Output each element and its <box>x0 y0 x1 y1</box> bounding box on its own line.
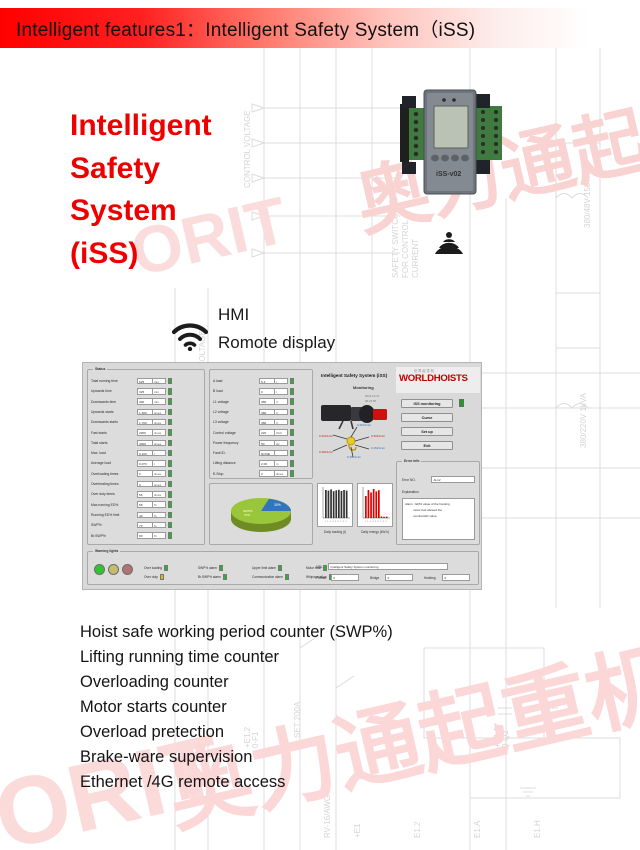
status-row: Average load0.073t <box>91 459 172 467</box>
svg-text:380/220V 1kVA: 380/220V 1kVA <box>579 392 588 448</box>
status-row-led <box>168 440 172 447</box>
brand-name: WORLDHOISTS <box>399 373 468 384</box>
status-row-value[interactable]: 3000 <box>137 440 153 447</box>
status-row-label: Fast starts <box>91 431 137 435</box>
status-row-label: Overloading times <box>91 472 137 476</box>
status-row-unit: t <box>275 378 288 385</box>
svg-text:FOR CONTROL: FOR CONTROL <box>401 219 410 278</box>
status-row-label: L3 voltage <box>213 420 259 424</box>
status-row-value[interactable]: 5.2 <box>259 378 275 385</box>
status-row-value[interactable]: 380 <box>259 419 275 426</box>
status-row: E-Stop2times <box>213 470 294 478</box>
status-row-unit: % <box>153 512 166 519</box>
svg-text:iSS-v02: iSS-v02 <box>436 171 461 178</box>
svg-text:5: 5 <box>335 521 336 523</box>
svg-text:1: 1 <box>325 521 326 523</box>
wifi-icon <box>172 323 208 351</box>
status-row-unit: % <box>153 532 166 539</box>
status-row-value[interactable]: 2900 <box>137 429 153 436</box>
brand-logo: 世界起重机 WORLDHOISTS <box>396 367 480 393</box>
status-row-led <box>168 512 172 519</box>
hero-line-3: System <box>70 190 212 233</box>
status-row-led <box>290 440 294 447</box>
svg-text:0.15t/1min: 0.15t/1min <box>371 446 385 450</box>
status-row-value[interactable]: 50 <box>259 440 275 447</box>
hmi-subtitle: Monitoring <box>353 385 374 390</box>
status-row-unit: min <box>153 378 166 385</box>
svg-text:1: 1 <box>365 521 366 523</box>
status-row: Fast starts2900times <box>91 429 172 437</box>
status-row: Upwards starts1,300times <box>91 408 172 416</box>
status-indicator: Over loading <box>144 565 168 571</box>
status-row: Upwards time325min <box>91 387 172 395</box>
status-row-unit: V <box>275 409 288 416</box>
status-row-unit: times <box>153 419 166 426</box>
status-indicator-led <box>160 574 164 580</box>
svg-text:0.20t/1min: 0.20t/1min <box>319 434 333 438</box>
status-row-led <box>168 532 172 539</box>
status-row-led <box>168 419 172 426</box>
svg-text:6: 6 <box>338 521 339 523</box>
iss-controller-photo: iSS-v02 <box>396 78 506 218</box>
svg-text:2: 2 <box>327 521 328 523</box>
status-row-led <box>168 481 172 488</box>
iss-monitoring-led <box>459 399 464 407</box>
svg-text:SAFETY SWITCH: SAFETY SWITCH <box>391 213 400 278</box>
status-row-unit: times <box>153 440 166 447</box>
url-field[interactable]: Intelligent Safety System monitoring <box>328 563 448 570</box>
status-row-label: Average load <box>91 461 137 465</box>
status-row-value[interactable]: 380 <box>259 409 275 416</box>
status-indicator-label: SWP% alarm <box>198 566 217 570</box>
status-row-value[interactable]: 2.06 <box>259 460 275 467</box>
status-row-unit: times <box>275 470 288 477</box>
hoisting-field[interactable]: 0 <box>442 574 470 581</box>
status-row-unit: times <box>153 409 166 416</box>
electric-hoist-diagram: 0.20t/1min 0.15t/1min 0.25t/1min 0.30t/1… <box>317 403 393 459</box>
status-row-label: Overheating times <box>91 482 137 486</box>
feature-item: Lifting running time counter <box>80 645 393 670</box>
hero-line-1: Intelligent <box>70 105 212 148</box>
status-row-value[interactable]: 58 <box>137 501 153 508</box>
svg-text:0.25t/1min: 0.25t/1min <box>347 455 361 459</box>
status-row: Over duty times56times <box>91 490 172 498</box>
status-row-unit <box>275 450 288 457</box>
status-row-label: Total starts <box>91 441 137 445</box>
status-row: A load5.2t <box>213 377 294 385</box>
status-indicator-label: Communication alarm <box>252 575 283 579</box>
status-indicator: Br.SWP% alarm <box>198 574 227 580</box>
status-row-led <box>290 409 294 416</box>
status-indicator-label: Over duty <box>144 575 158 579</box>
daily-energy-bar-chart: 123 456 789 <box>359 485 391 525</box>
warning-lights-title: Warning lights <box>93 549 120 553</box>
bridge-label: Bridge <box>370 576 379 580</box>
status-row-value[interactable]: 300 <box>137 398 153 405</box>
status-row-unit: times <box>153 470 166 477</box>
status-row-unit: times <box>153 491 166 498</box>
svg-text:7: 7 <box>380 521 381 523</box>
status-row-unit: V <box>275 398 288 405</box>
status-row-led <box>290 429 294 436</box>
status-indicator: Communication alarm <box>252 574 289 580</box>
status-row: Control voltage220VAC <box>213 429 294 437</box>
svg-text:E1.2: E1.2 <box>413 821 422 838</box>
button-curve[interactable]: Curve <box>401 413 453 422</box>
svg-text:E1.A: E1.A <box>473 820 482 838</box>
status-row-led <box>168 460 172 467</box>
status-row-value[interactable]: 80 <box>137 532 153 539</box>
status-row-led <box>168 470 172 477</box>
status-row-unit: t <box>153 450 166 457</box>
status-row: L2 voltage380V <box>213 408 294 416</box>
status-row: Br.SWP%80% <box>91 532 172 540</box>
status-row-value[interactable]: 625 <box>137 378 153 385</box>
svg-text:4: 4 <box>332 521 333 523</box>
status-row-label: L2 voltage <box>213 410 259 414</box>
daily-loading-caption: Daily loading (t) <box>317 530 353 534</box>
status-row-unit: t <box>275 388 288 395</box>
status-row-value[interactable]: 220 <box>259 429 275 436</box>
status-row-value[interactable]: 380 <box>259 398 275 405</box>
status-row-led <box>168 429 172 436</box>
explanation-label: Explanation <box>402 490 419 494</box>
status-group-title: Status <box>93 367 107 371</box>
status-row-led <box>168 522 172 529</box>
button-exit[interactable]: Exit <box>401 441 453 450</box>
status-row-label: Upwards starts <box>91 410 137 414</box>
hmi-screenshot-panel[interactable]: Status Total running time625minUpwards t… <box>82 362 482 590</box>
svg-text:2: 2 <box>367 521 368 523</box>
status-row-label: Over duty times <box>91 492 137 496</box>
status-row-led <box>290 470 294 477</box>
status-row-label: L1 voltage <box>213 400 259 404</box>
feature-list: Hoist safe working period counter (SWP%)… <box>80 620 393 796</box>
status-row: Downwards starts1,700times <box>91 418 172 426</box>
feature-item: Overloading counter <box>80 670 393 695</box>
hmi-caption-line1: HMI <box>218 305 249 325</box>
status-row: Downwards time300min <box>91 398 172 406</box>
status-row-unit: % <box>153 522 166 529</box>
status-row-value[interactable]: 0 <box>137 470 153 477</box>
status-row-value[interactable]: 40 <box>137 512 153 519</box>
status-row: L1 voltage380V <box>213 398 294 406</box>
status-row: Total starts3000times <box>91 439 172 447</box>
svg-text:380/48V 150VA: 380/48V 150VA <box>583 172 592 228</box>
svg-text:0.30t/1min: 0.30t/1min <box>371 434 385 438</box>
error-info-panel: Error info Error NO. AL12 Explanation Al… <box>396 461 480 545</box>
status-row: Total running time625min <box>91 377 172 385</box>
status-row-label: Downwards time <box>91 400 137 404</box>
status-row-unit: t <box>153 460 166 467</box>
yellow-lamp <box>108 564 119 575</box>
status-row-label: Max. load <box>91 451 137 455</box>
status-row-led <box>290 388 294 395</box>
status-row-label: SWP% <box>91 523 137 527</box>
status-row-value[interactable]: 0 <box>137 481 153 488</box>
hero-line-2: Safety <box>70 148 212 191</box>
feature-item: Hoist safe working period counter (SWP%) <box>80 620 393 645</box>
status-row-value[interactable]: NONE <box>259 450 275 457</box>
feature-item: Brake-ware supervision <box>80 745 393 770</box>
status-row-value[interactable]: 70 <box>137 522 153 529</box>
svg-text:0.28t/1min: 0.28t/1min <box>319 450 333 454</box>
hoisting-label: Hoisting <box>424 576 436 580</box>
format-field[interactable]: 0 <box>331 574 359 581</box>
svg-text:CURRENT: CURRENT <box>411 239 420 278</box>
status-indicator-led <box>285 574 289 580</box>
status-row-label: Control voltage <box>213 431 259 435</box>
svg-text:9: 9 <box>385 521 386 523</box>
status-row: Overheating times0times <box>91 480 172 488</box>
status-row-led <box>168 388 172 395</box>
status-row-label: Downwards starts <box>91 420 137 424</box>
svg-text:3: 3 <box>330 521 331 523</box>
status-row-label: Fault ID. <box>213 451 259 455</box>
status-row-led <box>290 450 294 457</box>
status-indicator-led <box>323 565 327 571</box>
status-indicator-led <box>164 565 168 571</box>
status-row-unit: V <box>275 419 288 426</box>
status-row-unit: min <box>153 388 166 395</box>
explanation-line-3: nominal ED value. <box>403 512 474 518</box>
svg-text:E1.H: E1.H <box>533 820 542 838</box>
svg-text:5: 5 <box>375 521 376 523</box>
status-row-label: Power frequency <box>213 441 259 445</box>
svg-text:70%: 70% <box>244 513 250 517</box>
svg-text:0-Q2: 0-Q2 <box>501 730 510 748</box>
svg-text:8: 8 <box>343 521 344 523</box>
status-row: Max. load0.100t <box>91 449 172 457</box>
svg-text:9: 9 <box>345 521 346 523</box>
status-row-value[interactable]: 56 <box>137 491 153 498</box>
status-row-label: Max.running ED% <box>91 503 137 507</box>
status-row-led <box>168 398 172 405</box>
svg-text:CONTROL VOLTAGE: CONTROL VOLTAGE <box>243 110 252 188</box>
status-row: Overloading times0times <box>91 470 172 478</box>
status-row-value[interactable]: 325 <box>137 388 153 395</box>
status-row-label: A load <box>213 379 259 383</box>
status-row-led <box>290 419 294 426</box>
status-row-value[interactable]: 2 <box>259 470 275 477</box>
status-row-led <box>290 378 294 385</box>
status-indicator-led <box>278 565 282 571</box>
daily-energy-caption: Daily energy (kW.h) <box>357 530 393 534</box>
page-title: Intelligent features1：Intelligent Safety… <box>0 15 475 42</box>
status-row-value[interactable]: 1,300 <box>137 409 153 416</box>
status-indicator-label: Br.SWP% alarm <box>198 575 221 579</box>
bridge-field[interactable]: 0 <box>385 574 413 581</box>
svg-text:0.20t/1min: 0.20t/1min <box>357 423 371 427</box>
explanation-box: Alarm : ED% value of the hoisting motor … <box>402 498 475 540</box>
status-row-value[interactable]: 1,700 <box>137 419 153 426</box>
feature-item: Overload pretection <box>80 720 393 745</box>
red-lamp <box>122 564 133 575</box>
status-indicator: Upper limit alarm <box>252 565 282 571</box>
error-info-title: Error info <box>402 459 421 463</box>
svg-text:6: 6 <box>378 521 379 523</box>
signal-broadcast-icon <box>432 230 466 256</box>
status-row: Running ED% limit40% <box>91 511 172 519</box>
status-row-unit: m <box>275 460 288 467</box>
svg-text:4: 4 <box>372 521 373 523</box>
status-row-led <box>168 378 172 385</box>
status-row: Lifting distance2.06m <box>213 459 294 467</box>
status-indicator: SWP% alarm <box>198 565 223 571</box>
feature-item: Motor starts counter <box>80 695 393 720</box>
status-row-unit: Hz <box>275 440 288 447</box>
status-indicator-led <box>223 574 227 580</box>
status-row-label: Br.SWP% <box>91 534 137 538</box>
status-row-label: E-Stop <box>213 472 259 476</box>
status-indicator-label: Upper limit alarm <box>252 566 276 570</box>
status-row-value[interactable]: 0.100 <box>137 450 153 457</box>
status-row-label: Upwards time <box>91 389 137 393</box>
svg-text:8: 8 <box>383 521 384 523</box>
status-row-value[interactable]: 0 <box>259 388 275 395</box>
status-row-unit: times <box>153 481 166 488</box>
svg-text:3: 3 <box>370 521 371 523</box>
hero-heading: Intelligent Safety System (iSS) <box>70 105 212 275</box>
status-row: Power frequency50Hz <box>213 439 294 447</box>
status-row-led <box>168 501 172 508</box>
status-row-led <box>168 491 172 498</box>
error-no-label: Error NO. <box>402 478 416 482</box>
format-label: Format <box>316 576 326 580</box>
status-row: Fault ID.NONE <box>213 449 294 457</box>
error-no-value[interactable]: AL12 <box>431 476 475 483</box>
url-label: URL <box>316 565 322 569</box>
status-row-led <box>168 409 172 416</box>
hmi-title: Intelligent Safety System (iSS) <box>321 373 387 378</box>
status-indicator: Over duty <box>144 574 164 580</box>
status-row: SWP%70% <box>91 521 172 529</box>
status-row-label: Total running time <box>91 379 137 383</box>
svg-text:7: 7 <box>340 521 341 523</box>
daily-loading-bar-chart: 123 456 789 <box>319 485 351 525</box>
hmi-caption-line2: Romote display <box>218 333 335 353</box>
status-row-label: Lifting distance <box>213 461 259 465</box>
status-row-label: B load <box>213 389 259 393</box>
svg-text:+E1: +E1 <box>353 823 362 838</box>
hmi-timestamp-date: 2019-10-11 <box>365 394 379 398</box>
page-title-bar: Intelligent features1：Intelligent Safety… <box>0 8 640 48</box>
green-lamp <box>94 564 105 575</box>
status-row-unit: VAC <box>275 429 288 436</box>
status-row: L3 voltage380V <box>213 418 294 426</box>
status-indicator-led <box>219 565 223 571</box>
status-indicator-label: Over loading <box>144 566 162 570</box>
hero-line-4: (iSS) <box>70 233 212 276</box>
status-row-unit: min <box>153 398 166 405</box>
status-row-led <box>290 460 294 467</box>
status-row-label: Running ED% limit <box>91 513 137 517</box>
button-setup[interactable]: Set up <box>401 427 453 436</box>
status-row: Max.running ED%58% <box>91 501 172 509</box>
button-iss-monitoring[interactable]: iSS monitoring <box>401 399 453 408</box>
status-row-unit: % <box>153 501 166 508</box>
status-row-led <box>290 398 294 405</box>
status-row-value[interactable]: 0.073 <box>137 460 153 467</box>
feature-item: Ethernet /4G remote access <box>80 770 393 795</box>
status-row: B load0t <box>213 387 294 395</box>
status-row-unit: times <box>153 429 166 436</box>
status-row-led <box>168 450 172 457</box>
swp-pie-chart: 30% SWP% 70% <box>221 489 301 539</box>
hmi-status-bar: Warning lights Over loadingOver dutySWP%… <box>87 551 479 585</box>
explanation-line-1: Alarm : ED% value of the hoisting <box>403 499 474 506</box>
svg-text:30%: 30% <box>274 503 281 507</box>
